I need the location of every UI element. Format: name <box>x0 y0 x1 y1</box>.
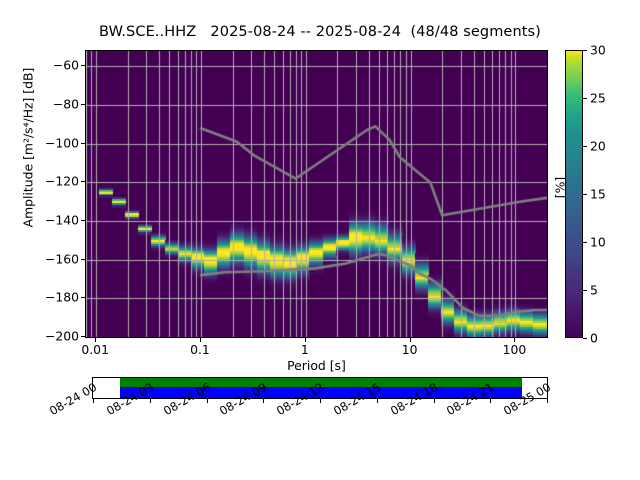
colorbar-tick-label: 10 <box>590 235 606 250</box>
colorbar-tick-mark <box>583 50 587 51</box>
ppsd-figure: BW.SCE..HHZ 2025-08-24 -- 2025-08-24 (48… <box>0 0 640 480</box>
x-tick-label: 1 <box>275 342 335 357</box>
colorbar <box>565 50 583 338</box>
y-tick-label: −140 <box>19 213 79 228</box>
colorbar-tick-mark <box>583 242 587 243</box>
time-tick-label: 08-24 00 <box>47 380 99 418</box>
colorbar-label: [%] <box>553 128 568 248</box>
y-tick-mark <box>81 104 85 105</box>
x-axis-label: Period [s] <box>85 358 548 373</box>
time-tick-mark <box>377 399 378 403</box>
x-tick-mark <box>305 338 306 342</box>
colorbar-tick-mark <box>583 194 587 195</box>
y-tick-label: −120 <box>19 174 79 189</box>
colorbar-tick-mark <box>583 338 587 339</box>
time-tick-mark <box>320 399 321 403</box>
x-tick-mark <box>514 338 515 342</box>
time-tick-mark <box>150 399 151 403</box>
x-tick-label: 100 <box>484 342 544 357</box>
colorbar-tick-label: 5 <box>590 283 598 298</box>
y-tick-label: −80 <box>19 97 79 112</box>
colorbar-tick-label: 0 <box>590 331 598 346</box>
y-tick-label: −100 <box>19 135 79 150</box>
colorbar-tick-label: 25 <box>590 91 606 106</box>
y-tick-label: −160 <box>19 251 79 266</box>
time-tick-mark <box>490 399 491 403</box>
y-tick-label: −60 <box>19 58 79 73</box>
x-tick-label: 10 <box>380 342 440 357</box>
ppsd-plot-area[interactable] <box>85 50 548 338</box>
colorbar-tick-mark <box>583 290 587 291</box>
time-tick-mark <box>93 399 94 403</box>
x-tick-mark <box>200 338 201 342</box>
colorbar-tick-mark <box>583 98 587 99</box>
colorbar-tick-mark <box>583 146 587 147</box>
y-tick-mark <box>81 259 85 260</box>
x-tick-mark <box>95 338 96 342</box>
colorbar-tick-label: 20 <box>590 139 606 154</box>
colorbar-tick-label: 15 <box>590 187 606 202</box>
y-tick-mark <box>81 65 85 66</box>
y-tick-mark <box>81 220 85 221</box>
time-tick-mark <box>263 399 264 403</box>
colorbar-tick-label: 30 <box>590 43 606 58</box>
x-tick-label: 0.1 <box>170 342 230 357</box>
y-tick-mark <box>81 297 85 298</box>
y-tick-mark <box>81 336 85 337</box>
x-tick-mark <box>410 338 411 342</box>
ppsd-density-canvas <box>86 51 547 337</box>
y-tick-mark <box>81 181 85 182</box>
y-tick-mark <box>81 143 85 144</box>
figure-title: BW.SCE..HHZ 2025-08-24 -- 2025-08-24 (48… <box>0 24 640 40</box>
x-tick-label: 0.01 <box>65 342 125 357</box>
time-tick-mark <box>434 399 435 403</box>
time-tick-mark <box>207 399 208 403</box>
y-tick-label: −180 <box>19 290 79 305</box>
time-tick-mark <box>547 399 548 403</box>
